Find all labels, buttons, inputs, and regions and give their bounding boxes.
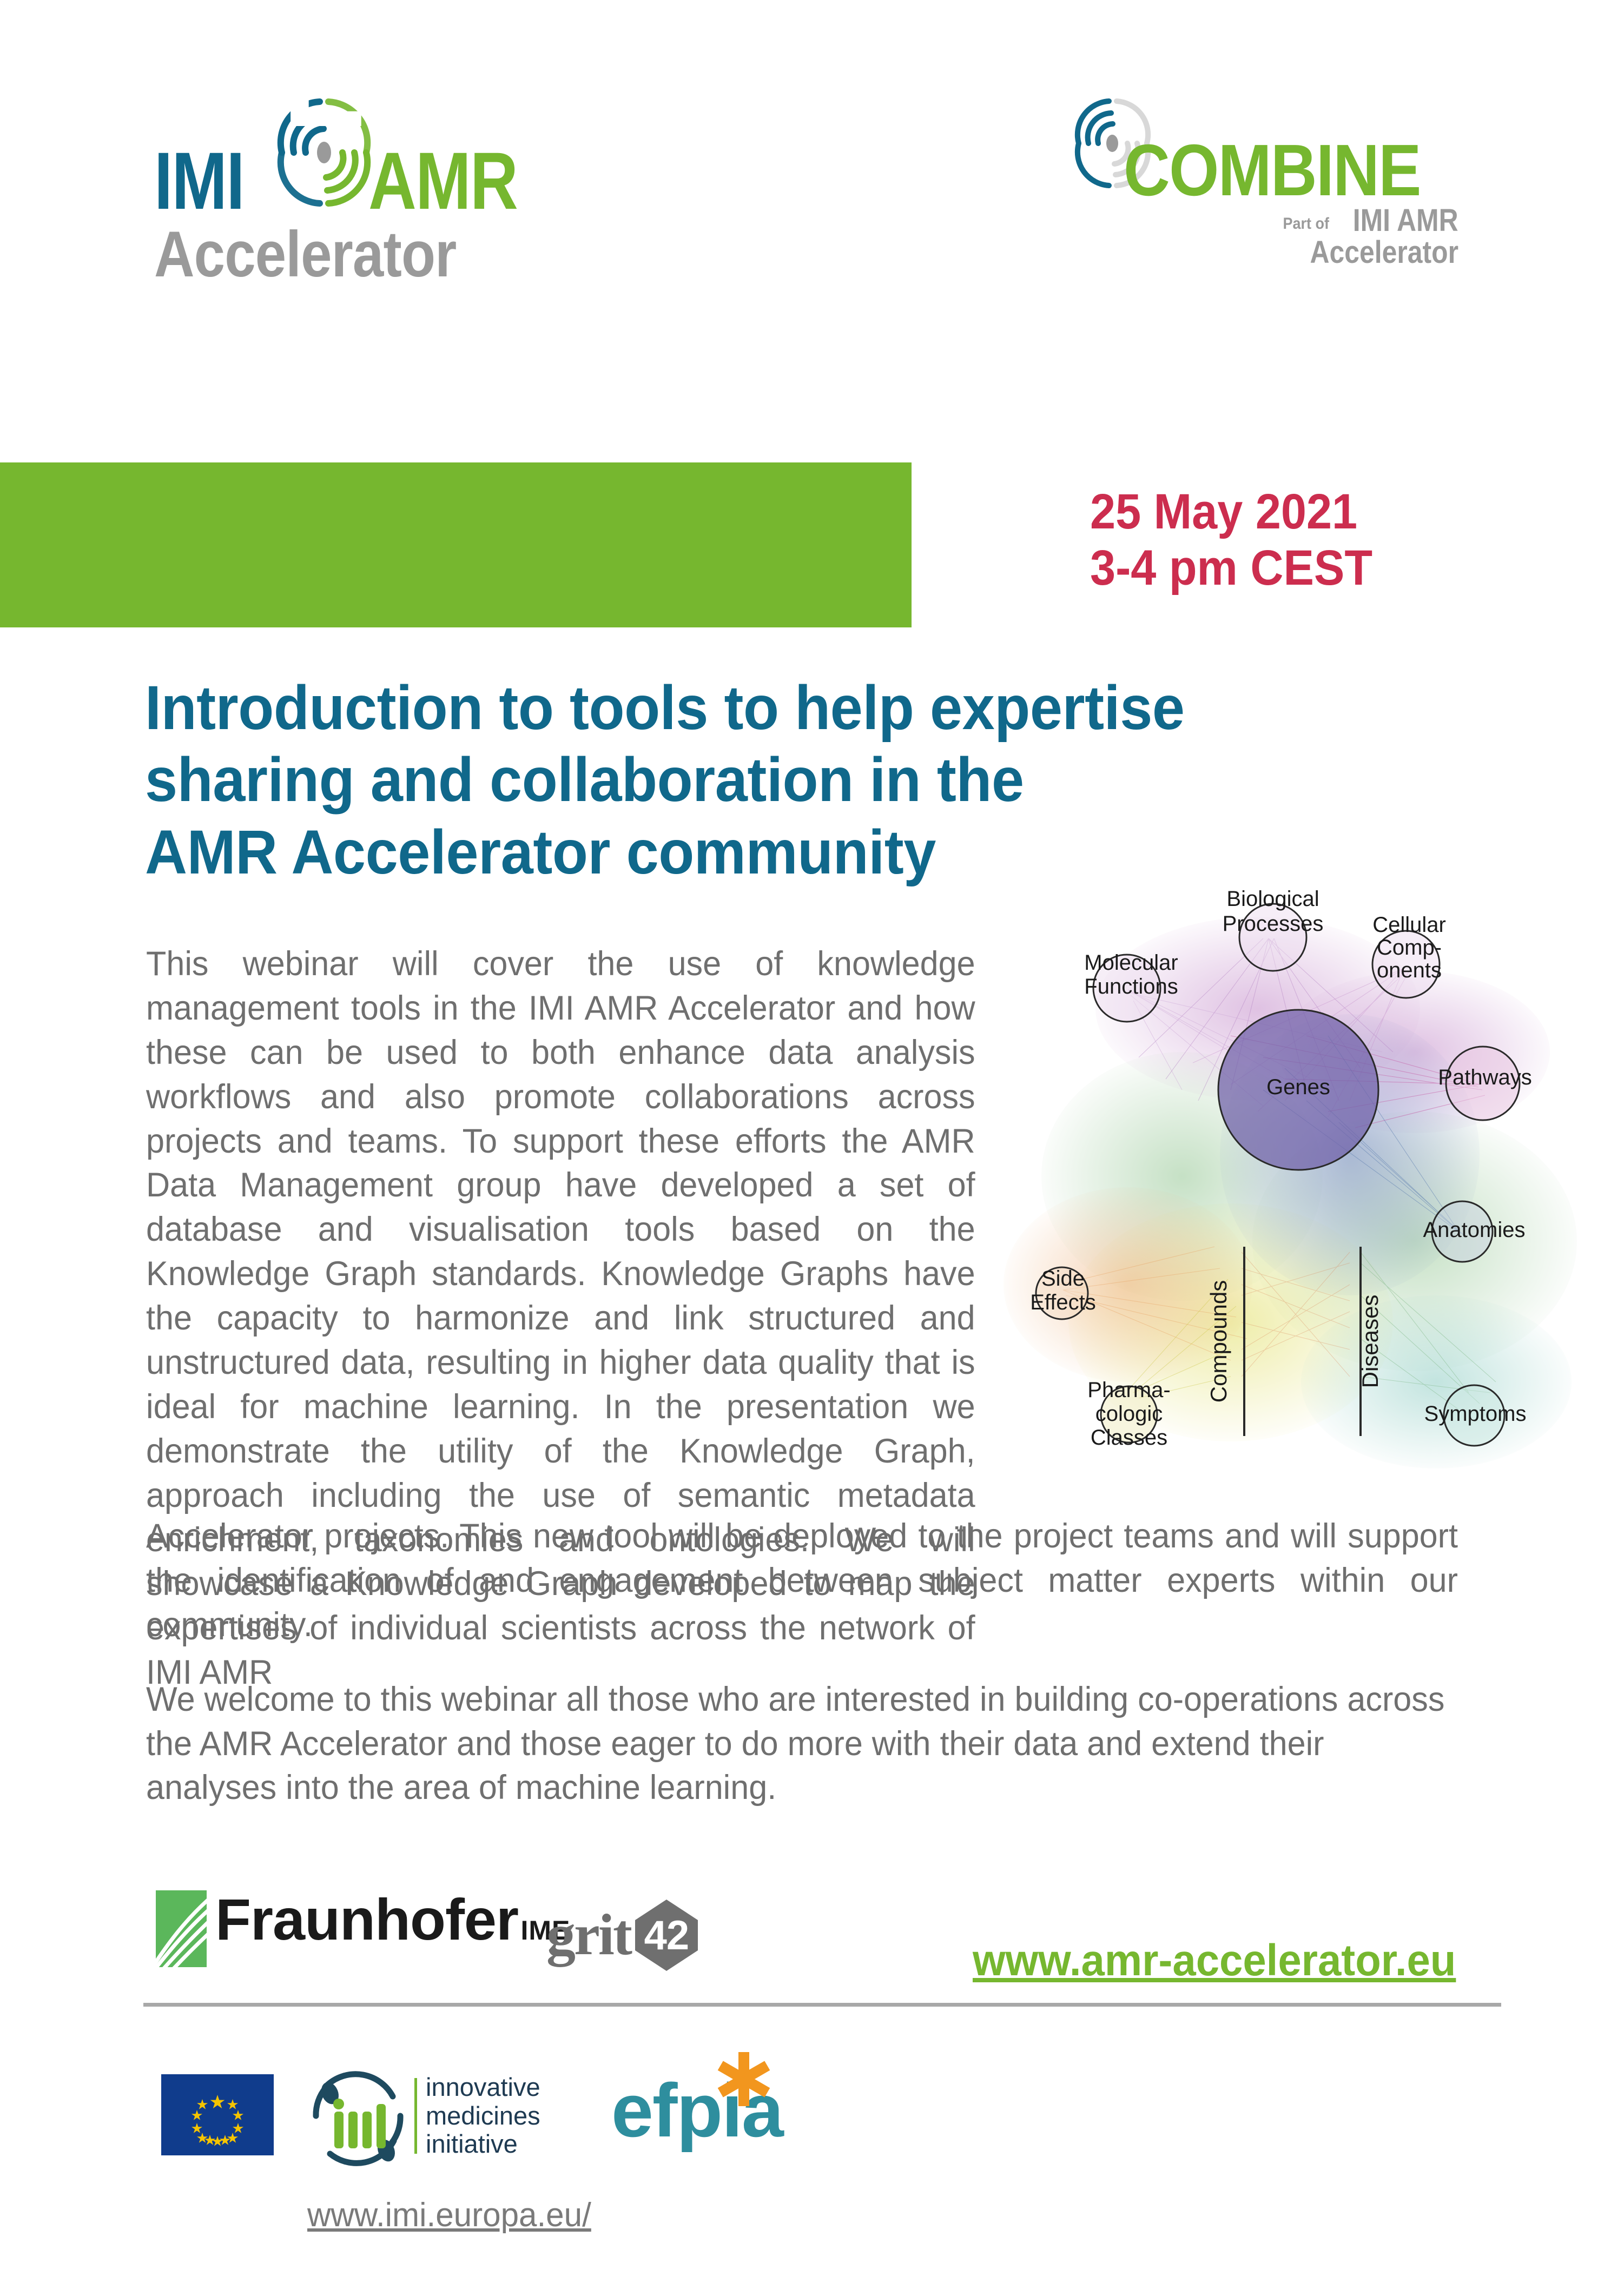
kg-label-pharmacologic-classes-2: cologic — [1095, 1402, 1163, 1426]
kg-label-molecular-functions-2: Functions — [1084, 975, 1178, 998]
event-date: 25 May 2021 — [1090, 484, 1538, 540]
kg-label-side-effects-1: Side — [1041, 1267, 1085, 1291]
description-paragraph-welcome: We welcome to this webinar all those who… — [146, 1678, 1458, 1811]
fraunhofer-text-block: Fraunhofer IME — [215, 1890, 570, 1949]
webinar-label: WEBINAR — [162, 5, 771, 155]
footer-divider — [143, 2003, 1501, 2007]
combine-wordmark-row: COMBINE — [1071, 105, 1461, 203]
imi-word-line1: innovative — [426, 2073, 540, 2101]
imi-word-line2: medicines — [426, 2101, 540, 2130]
kg-label-symptoms: Symptoms — [1424, 1402, 1527, 1426]
kg-label-pharmacologic-classes-1: Pharma- — [1087, 1378, 1170, 1402]
grit42-number: 42 — [644, 1912, 689, 1959]
imi-word-line3: initiative — [426, 2129, 518, 2158]
logo-text-amr: AMR — [368, 145, 517, 216]
funding-footer: innovative medicines initiative efpia Th… — [0, 2034, 1624, 2266]
title-line-2: sharing and collaboration in the — [145, 744, 1416, 816]
kg-label-molecular-functions-1: Molecular — [1084, 951, 1178, 975]
kg-label-diseases: Diseases — [1357, 1295, 1383, 1388]
kg-label-pharmacologic-classes-3: Classes — [1091, 1426, 1167, 1450]
grit42-logo: grit 42 — [546, 1898, 699, 1972]
imi-divider-bar — [414, 2078, 417, 2154]
combine-parent-block: Part of IMI AMR Accelerator — [1071, 205, 1461, 269]
kg-label-compounds: Compounds — [1206, 1280, 1231, 1402]
kg-label-anatomies: Anatomies — [1423, 1218, 1526, 1242]
parent-program-line1: IMI AMR — [1353, 205, 1458, 236]
kg-label-pathways: Pathways — [1438, 1066, 1531, 1089]
amr-accelerator-website-link[interactable]: www.amr-accelerator.eu — [973, 1935, 1456, 1986]
kg-label-cellular-components-2: Comp- — [1377, 936, 1442, 960]
kg-label-biological-processes-1: Biological — [1226, 887, 1319, 911]
logo-text-imi: IMI — [154, 145, 244, 216]
imi-wordmark-text: innovative medicines initiative — [426, 2073, 540, 2159]
page-title: Introduction to tools to help expertise … — [145, 672, 1416, 889]
description-paragraph-continued: Accelerator projects. This new tool will… — [146, 1514, 1458, 1647]
event-datetime-block: 25 May 2021 3-4 pm CEST — [1090, 484, 1577, 597]
kg-label-cellular-components-3: onents — [1377, 958, 1442, 982]
logo-text-accelerator: Accelerator — [154, 222, 526, 287]
fraunhofer-ime-logo: Fraunhofer IME — [156, 1890, 570, 1967]
webinar-poster: IMI — [0, 0, 1624, 2296]
parent-program-line2: Accelerator — [1125, 236, 1458, 269]
combine-swirl-icon — [1071, 111, 1124, 203]
kg-label-biological-processes-2: Processes — [1223, 912, 1324, 936]
fraunhofer-name: Fraunhofer — [215, 1887, 518, 1952]
grit42-hexagon-icon: 42 — [634, 1898, 699, 1972]
fraunhofer-mark-icon — [156, 1890, 207, 1967]
webinar-green-band — [0, 462, 912, 627]
efpia-asterisk-icon — [715, 2050, 773, 2111]
imi-website-link[interactable]: www.imi.europa.eu/ — [307, 2196, 591, 2234]
combine-project-logo: COMBINE Part of IMI AMR Accelerator — [1071, 105, 1461, 306]
efpia-logo: efpia — [611, 2073, 783, 2148]
imi-logo: innovative medicines initiative — [304, 2062, 540, 2170]
title-line-1: Introduction to tools to help expertise — [145, 672, 1416, 744]
kg-label-genes: Genes — [1266, 1075, 1330, 1099]
partof-label: Part of — [1283, 215, 1330, 236]
knowledge-graph-figure: Biological Processes Cellular Comp- onen… — [1004, 874, 1599, 1501]
combine-name-text: COMBINE — [1124, 137, 1421, 203]
kg-label-cellular-components-1: Cellular — [1372, 913, 1446, 937]
description-full-width: Accelerator projects. This new tool will… — [146, 1514, 1498, 1810]
european-union-flag-icon — [161, 2074, 274, 2155]
grit42-word: grit — [546, 1906, 631, 1964]
kg-label-side-effects-2: Effects — [1030, 1291, 1096, 1314]
event-time: 3-4 pm CEST — [1090, 540, 1538, 597]
imi-circle-icon — [304, 2062, 412, 2170]
